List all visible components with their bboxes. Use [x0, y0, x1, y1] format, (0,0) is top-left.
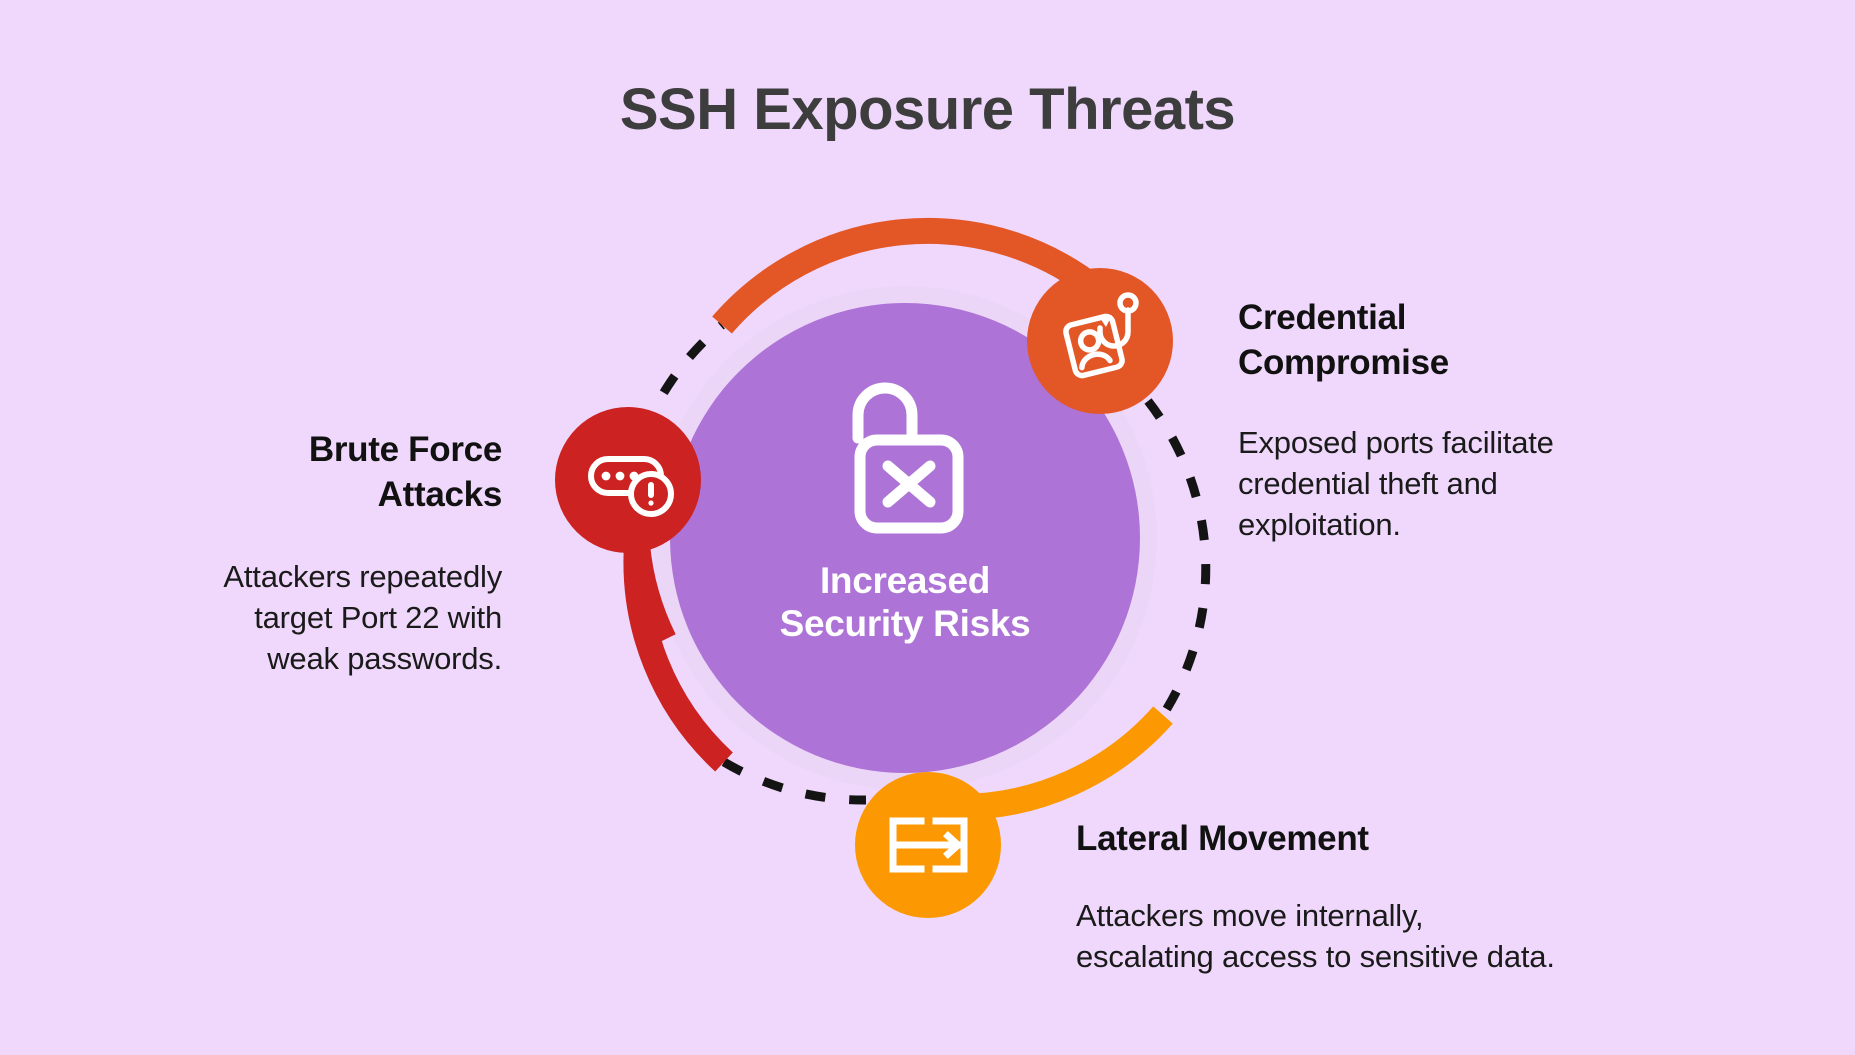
heading-line-2: Attacks — [130, 473, 502, 518]
heading-credential-compromise: Credential Compromise — [1238, 296, 1708, 386]
body-line-2: escalating access to sensitive data. — [1076, 936, 1776, 977]
body-lateral-movement: Attackers move internally, escalating ac… — [1076, 895, 1776, 977]
text-block-credential-compromise: Credential Compromise Exposed ports faci… — [1238, 296, 1708, 545]
body-line-3: exploitation. — [1238, 504, 1708, 545]
body-line-1: Exposed ports facilitate — [1238, 422, 1708, 463]
node-circle-brute-force[interactable] — [555, 407, 701, 553]
heading-line-1: Brute Force — [130, 428, 502, 473]
infographic-canvas: SSH Exposure Threats — [0, 0, 1855, 1055]
body-line-3: weak passwords. — [130, 638, 502, 679]
body-line-2: credential theft and — [1238, 463, 1708, 504]
body-line-1: Attackers repeatedly — [130, 556, 502, 597]
body-line-2: target Port 22 with — [130, 597, 502, 638]
body-line-1: Attackers move internally, — [1076, 895, 1776, 936]
dashed-arc-orange-to-amber — [1148, 401, 1206, 715]
node-lateral-movement[interactable] — [855, 772, 1001, 918]
heading-line-2: Compromise — [1238, 341, 1708, 386]
heading-lateral-movement: Lateral Movement — [1076, 817, 1776, 862]
text-block-lateral-movement: Lateral Movement Attackers move internal… — [1076, 817, 1776, 977]
heading-line-1: Lateral Movement — [1076, 817, 1776, 862]
heading-line-1: Credential — [1238, 296, 1708, 341]
body-brute-force-attacks: Attackers repeatedly target Port 22 with… — [130, 556, 502, 680]
text-block-brute-force-attacks: Brute Force Attacks Attackers repeatedly… — [130, 428, 502, 679]
heading-brute-force-attacks: Brute Force Attacks — [130, 428, 502, 518]
node-credential-compromise[interactable] — [1027, 268, 1173, 414]
body-credential-compromise: Exposed ports facilitate credential thef… — [1238, 422, 1708, 546]
